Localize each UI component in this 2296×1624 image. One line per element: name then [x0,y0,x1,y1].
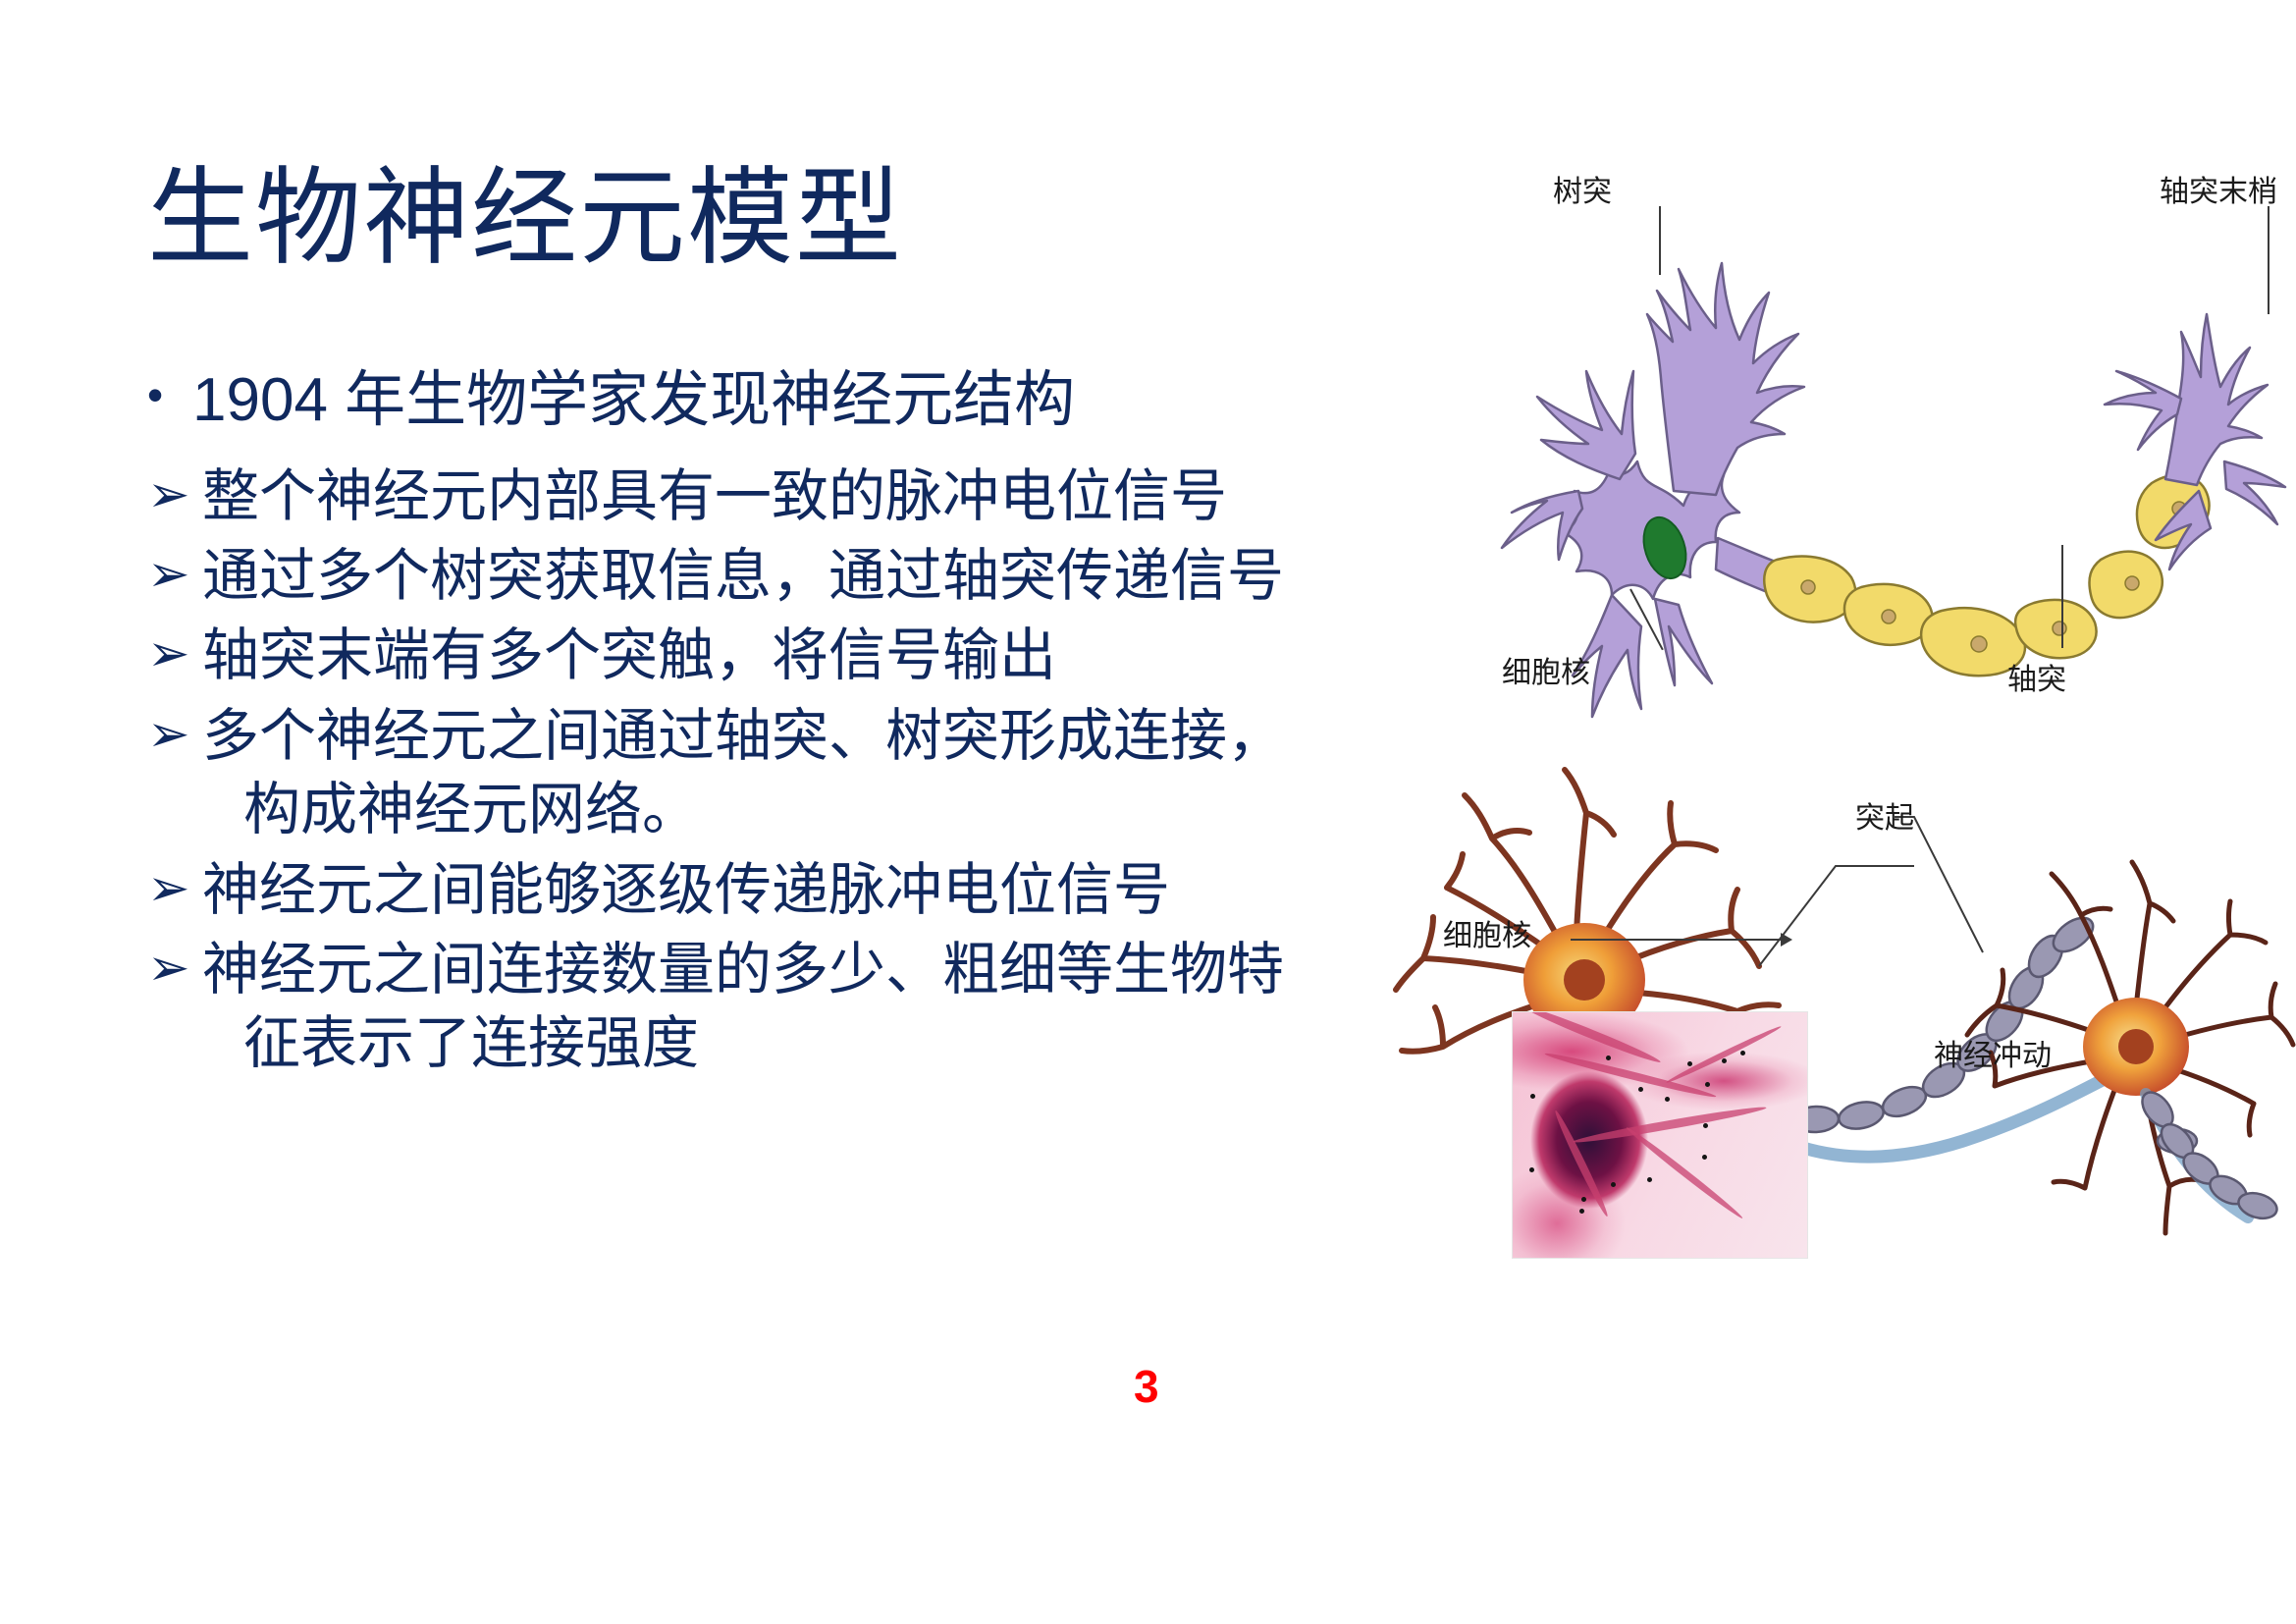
slide: 生物神经元模型 • 1904 年生物学家发现神经元结构 ➢ 整个神经元内部具有一… [0,0,2296,1624]
list-item-line: 整个神经元内部具有一致的脉冲电位信号 [202,460,1449,533]
list-item: ➢ 多个神经元之间通过轴突、树突形成连接， 构成神经元网络。 [147,699,1453,847]
lead-bullet-text: 1904 年生物学家发现神经元结构 [192,363,1453,438]
label-nucleus-top: 细胞核 [1502,648,1590,691]
page-title: 生物神经元模型 [147,157,903,279]
list-item-text: 整个神经元内部具有一致的脉冲电位信号 [202,460,1449,533]
page-number: 3 [1134,1360,1159,1413]
list-item-line: 神经元之间连接数量的多少、粗细等生物特 [202,933,1449,1006]
leader-line-axon-terminal [2268,206,2269,314]
list-item: ➢ 整个神经元内部具有一致的脉冲电位信号 [147,460,1453,533]
body-content: • 1904 年生物学家发现神经元结构 ➢ 整个神经元内部具有一致的脉冲电位信号… [147,363,1453,1087]
lead-bullet-item: • 1904 年生物学家发现神经元结构 [147,363,1453,438]
list-item-line-wrapped: 征表示了连接强度 [202,1006,1449,1080]
neuron-illustration-svg [1472,167,2296,736]
left-nucleus [1564,959,1605,1001]
list-item-line: 通过多个树突获取信息，通过轴突传递信号 [202,539,1449,613]
list-item-text: 轴突末端有多个突触，将信号输出 [202,619,1449,692]
arrow-bullet-icon: ➢ [147,699,202,772]
label-process: 突起 [1855,793,1914,837]
leader-arrowhead-icon [1781,933,1792,947]
arrow-bullet-icon: ➢ [147,619,202,691]
list-item-text: 通过多个树突获取信息，通过轴突传递信号 [202,539,1449,613]
leader-line-axon [2061,545,2063,648]
list-item-text: 神经元之间连接数量的多少、粗细等生物特 征表示了连接强度 [202,933,1449,1081]
stained-neuron-micrograph [1512,1011,1808,1259]
list-item: ➢ 轴突末端有多个突触，将信号输出 [147,619,1453,692]
list-item-line: 轴突末端有多个突触，将信号输出 [202,619,1449,692]
list-item-text: 多个神经元之间通过轴突、树突形成连接， 构成神经元网络。 [202,699,1449,847]
figure-column: 树突 轴突末梢 细胞核 轴突 [1472,167,2296,1276]
label-axon-terminal: 轴突末梢 [2160,167,2277,210]
arrow-bullet-icon: ➢ [147,539,202,612]
list-item: ➢ 神经元之间能够逐级传递脉冲电位信号 [147,853,1453,927]
arrow-bullet-icon: ➢ [147,853,202,926]
list-item-line-wrapped: 构成神经元网络。 [202,773,1449,846]
myelinated-neuron-diagram: 树突 轴突末梢 细胞核 轴突 [1472,167,2296,736]
list-item-line: 多个神经元之间通过轴突、树突形成连接， [202,699,1449,773]
nerve-impulse-diagram: 细胞核 突起 神经冲动 [1374,756,2296,1267]
list-item: ➢ 通过多个树突获取信息，通过轴突传递信号 [147,539,1453,613]
leader-line-nucleus-bottom-2 [1669,939,1787,941]
arrow-bullet-icon: ➢ [147,933,202,1005]
label-dendrite: 树突 [1553,167,1612,210]
label-nucleus-bottom: 细胞核 [1443,911,1531,954]
right-nucleus [2118,1029,2154,1064]
label-axon: 轴突 [2007,655,2066,698]
list-item-text: 神经元之间能够逐级传递脉冲电位信号 [202,853,1449,927]
list-item-line: 神经元之间能够逐级传递脉冲电位信号 [202,853,1449,927]
leader-line-nucleus-bottom [1571,939,1669,941]
arrow-bullet-icon: ➢ [147,460,202,532]
leader-line-dendrite [1659,206,1661,275]
bullet-dot-icon: • [147,363,192,427]
list-item: ➢ 神经元之间连接数量的多少、粗细等生物特 征表示了连接强度 [147,933,1453,1081]
label-nerve-impulse: 神经冲动 [1934,1031,2052,1074]
